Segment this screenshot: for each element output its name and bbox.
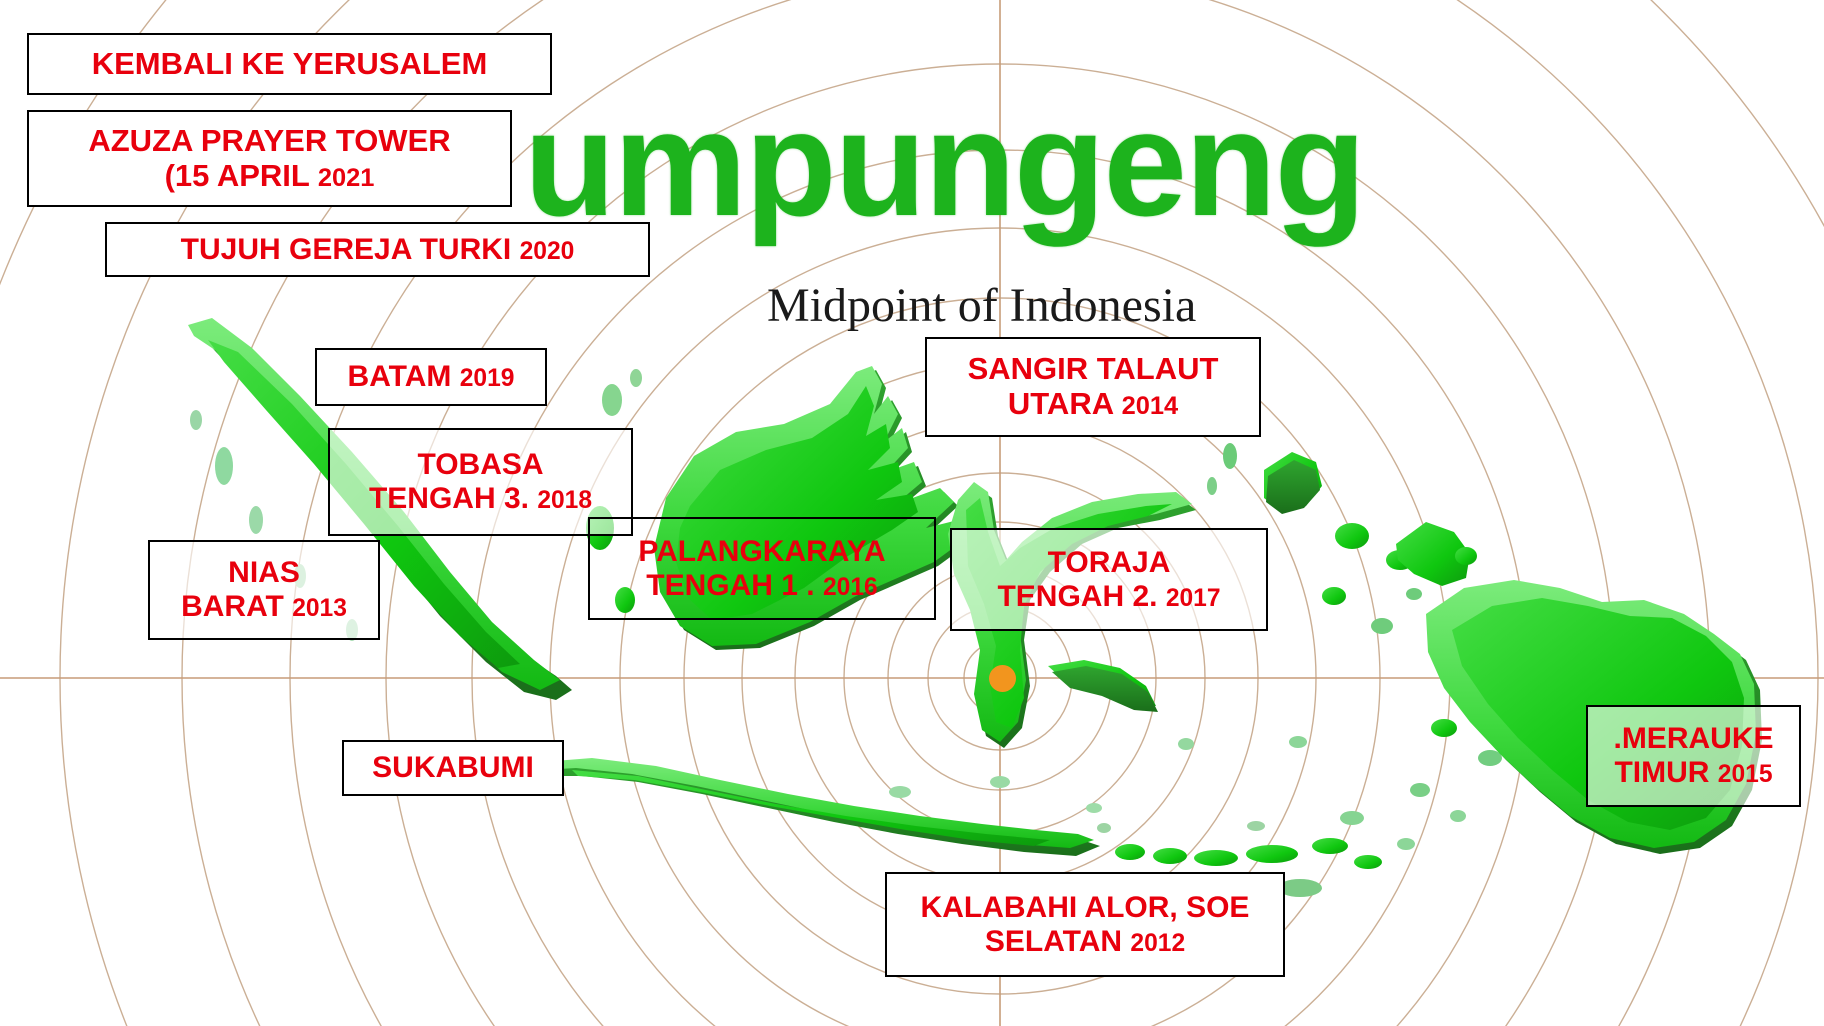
page-title: umpungeng — [524, 88, 1364, 238]
label-year: 2013 — [292, 595, 347, 622]
label-line-2: BARAT 2013 — [181, 590, 347, 624]
label-toraja-tengah: TORAJATENGAH 2. 2017 — [950, 528, 1268, 631]
label-line-1: BATAM 2019 — [348, 360, 515, 394]
label-line-1: AZUZA PRAYER TOWER — [88, 124, 450, 159]
label-year: 2020 — [520, 238, 575, 265]
label-year: 2014 — [1122, 392, 1179, 420]
label-sukabumi: SUKABUMI — [342, 740, 564, 796]
label-line-2: UTARA 2014 — [1008, 387, 1178, 422]
label-line-1: TORAJA — [1048, 546, 1171, 580]
label-line-2: SELATAN 2012 — [985, 925, 1185, 959]
label-kalabahi-alor-soe-selatan: KALABAHI ALOR, SOESELATAN 2012 — [885, 872, 1285, 977]
label-year: 2021 — [318, 164, 375, 192]
label-batam: BATAM 2019 — [315, 348, 547, 406]
label-merauke-timur: .MERAUKETIMUR 2015 — [1586, 705, 1801, 807]
label-line-1: TOBASA — [417, 448, 543, 482]
label-tujuh-gereja-turki: TUJUH GEREJA TURKI 2020 — [105, 222, 650, 277]
label-year: 2016 — [823, 574, 878, 601]
label-year: 2012 — [1130, 930, 1185, 957]
label-azuza-prayer-tower: AZUZA PRAYER TOWER(15 APRIL 2021 — [27, 110, 512, 207]
label-sangir-talaut-utara: SANGIR TALAUTUTARA 2014 — [925, 337, 1261, 437]
label-line-2: TENGAH 3. 2018 — [369, 482, 592, 516]
midpoint-marker — [989, 665, 1016, 692]
label-line-1: SUKABUMI — [372, 751, 534, 785]
label-year: 2015 — [1718, 761, 1773, 788]
label-line-1: KALABAHI ALOR, SOE — [921, 891, 1250, 925]
label-kembali-ke-yerusalem: KEMBALI KE YERUSALEM — [27, 33, 552, 95]
label-nias-barat: NIASBARAT 2013 — [148, 540, 380, 640]
poster-canvas: umpungeng Midpoint of Indonesia KEMBALI … — [0, 0, 1824, 1026]
label-line-2: TENGAH 2. 2017 — [997, 580, 1220, 614]
label-line-2: (15 APRIL 2021 — [165, 159, 375, 194]
label-year: 2018 — [537, 487, 592, 514]
label-year: 2017 — [1166, 585, 1221, 612]
label-line-1: PALANGKARAYA — [638, 535, 885, 569]
label-line-1: SANGIR TALAUT — [968, 352, 1219, 387]
label-line-1: KEMBALI KE YERUSALEM — [92, 47, 488, 82]
label-line-2: TENGAH 1 . 2016 — [646, 569, 877, 603]
label-line-1: TUJUH GEREJA TURKI 2020 — [181, 233, 575, 267]
label-line-2: TIMUR 2015 — [1614, 756, 1772, 790]
label-line-1: NIAS — [228, 556, 300, 590]
label-year: 2019 — [460, 365, 515, 392]
label-palangkaraya-tengah: PALANGKARAYATENGAH 1 . 2016 — [588, 517, 936, 620]
label-line-1: .MERAUKE — [1613, 722, 1773, 756]
page-subtitle: Midpoint of Indonesia — [767, 282, 1196, 330]
